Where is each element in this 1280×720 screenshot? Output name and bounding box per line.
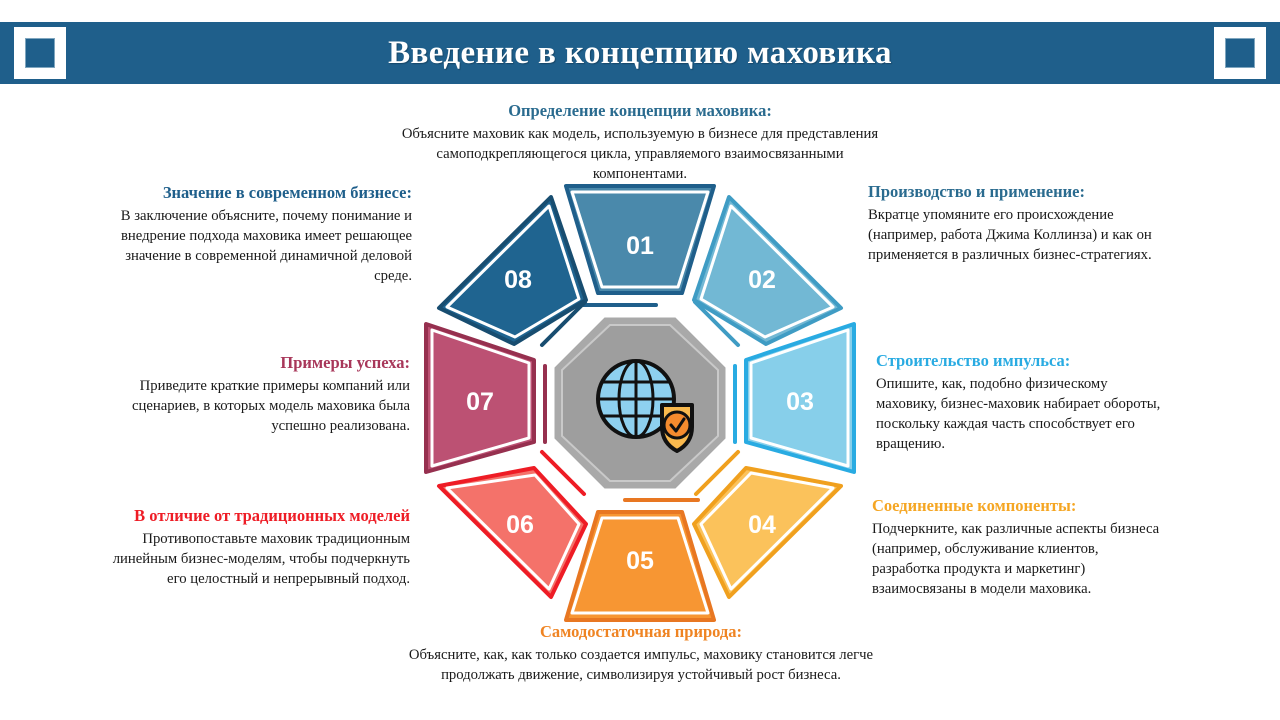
block-heading-07: Примеры успеха: — [104, 353, 410, 374]
segment-number-07: 07 — [466, 388, 494, 416]
segment-03[interactable]: 03 — [746, 324, 854, 472]
block-body-06: Противопоставьте маховик традиционным ли… — [110, 529, 410, 590]
header-corner-left — [14, 27, 66, 79]
text-block-08: Значение в современном бизнесе: В заключ… — [84, 183, 412, 287]
block-heading-08: Значение в современном бизнесе: — [84, 183, 412, 204]
text-block-05: Самодостаточная природа: Объясните, как,… — [406, 622, 876, 685]
square-outline-icon — [25, 38, 55, 68]
header-corner-right — [1214, 27, 1266, 79]
square-outline-icon — [1225, 38, 1255, 68]
text-block-01: Определение концепции маховика: Объяснит… — [398, 101, 882, 184]
segment-number-05: 05 — [626, 547, 654, 575]
segment-number-06: 06 — [506, 511, 534, 539]
block-body-08: В заключение объясните, почему понимание… — [84, 206, 412, 287]
slide-root: Введение в концепцию маховика Определени… — [0, 0, 1280, 720]
block-body-04: Подчеркните, как различные аспекты бизне… — [872, 519, 1170, 600]
block-heading-02: Производство и применение: — [868, 182, 1168, 203]
segment-number-08: 08 — [504, 266, 532, 294]
block-heading-06: В отличие от традиционных моделей — [110, 506, 410, 527]
block-heading-03: Строительство импульса: — [876, 351, 1168, 372]
text-block-03: Строительство импульса: Опишите, как, по… — [876, 351, 1168, 455]
segment-07[interactable]: 07 — [426, 324, 534, 472]
page-title: Введение в концепцию маховика — [388, 35, 892, 72]
segment-number-04: 04 — [748, 511, 776, 539]
segment-06[interactable]: 06 — [439, 468, 586, 597]
text-block-06: В отличие от традиционных моделей Против… — [110, 506, 410, 589]
block-body-02: Вкратце упомяните его происхождение (нап… — [868, 205, 1168, 266]
segment-04[interactable]: 04 — [694, 468, 841, 597]
segment-01[interactable]: 01 — [566, 186, 714, 293]
block-body-05: Объясните, как, как только создается имп… — [406, 645, 876, 686]
block-heading-04: Соединенные компоненты: — [872, 496, 1170, 517]
block-body-01: Объясните маховик как модель, используем… — [398, 124, 882, 185]
text-block-07: Примеры успеха: Приведите краткие пример… — [104, 353, 410, 436]
segment-number-02: 02 — [748, 266, 776, 294]
segment-05[interactable]: 05 — [566, 512, 714, 620]
header-bar: Введение в концепцию маховика — [0, 22, 1280, 84]
block-body-07: Приведите краткие примеры компаний или с… — [104, 376, 410, 437]
segment-number-03: 03 — [786, 388, 814, 416]
segment-number-01: 01 — [626, 232, 654, 260]
block-heading-01: Определение концепции маховика: — [398, 101, 882, 122]
text-block-04: Соединенные компоненты: Подчеркните, как… — [872, 496, 1170, 600]
octagon-diagram: 01 02 03 04 — [420, 180, 860, 630]
text-block-02: Производство и применение: Вкратце упомя… — [868, 182, 1168, 265]
block-body-03: Опишите, как, подобно физическому махови… — [876, 374, 1168, 455]
